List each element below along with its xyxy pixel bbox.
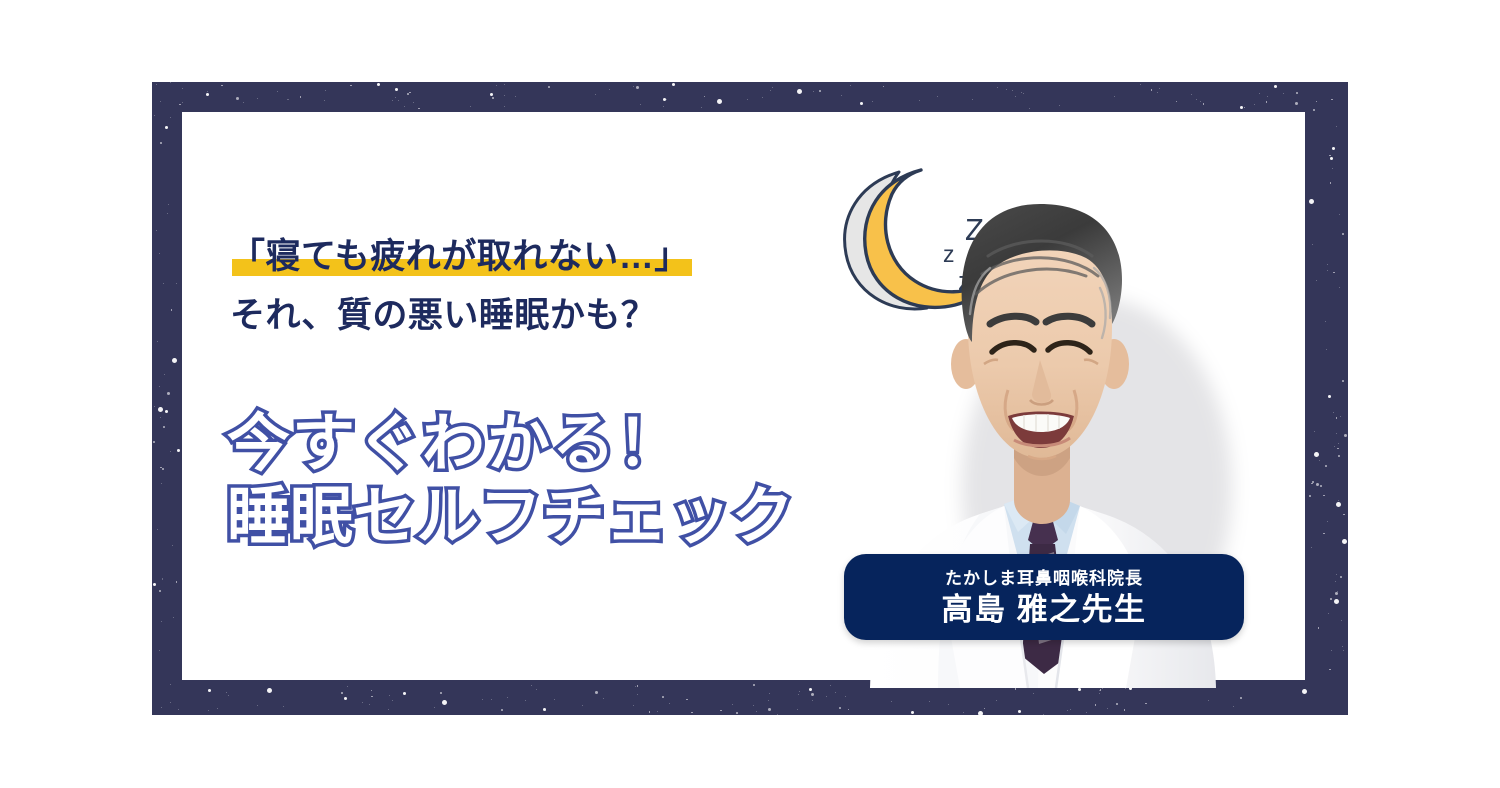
headline-line-2: 睡眠セルフチェック bbox=[227, 481, 907, 554]
badge-clinic-title: たかしま耳鼻咽喉科院長 bbox=[945, 570, 1143, 587]
banner-inner-card: 「寝ても疲れが取れない…」 それ、質の悪い睡眠かも？ 今すぐわかる！ 睡眠セルフ… bbox=[182, 112, 1305, 680]
banner-starfield-frame: 「寝ても疲れが取れない…」 それ、質の悪い睡眠かも？ 今すぐわかる！ 睡眠セルフ… bbox=[152, 82, 1348, 715]
lede-line-1-text: 「寝ても疲れが取れない…」 bbox=[230, 237, 690, 276]
headline-line-1: 今すぐわかる！ bbox=[227, 408, 907, 481]
badge-doctor-name: 高島 雅之先生 bbox=[941, 594, 1146, 625]
main-headline: 今すぐわかる！ 睡眠セルフチェック bbox=[227, 408, 907, 554]
lede-line-1: 「寝ても疲れが取れない…」 bbox=[230, 234, 690, 280]
lede-text-block: 「寝ても疲れが取れない…」 それ、質の悪い睡眠かも？ bbox=[230, 234, 850, 338]
doctor-name-badge: たかしま耳鼻咽喉科院長 高島 雅之先生 bbox=[844, 554, 1244, 640]
lede-line-2: それ、質の悪い睡眠かも？ bbox=[230, 293, 850, 339]
